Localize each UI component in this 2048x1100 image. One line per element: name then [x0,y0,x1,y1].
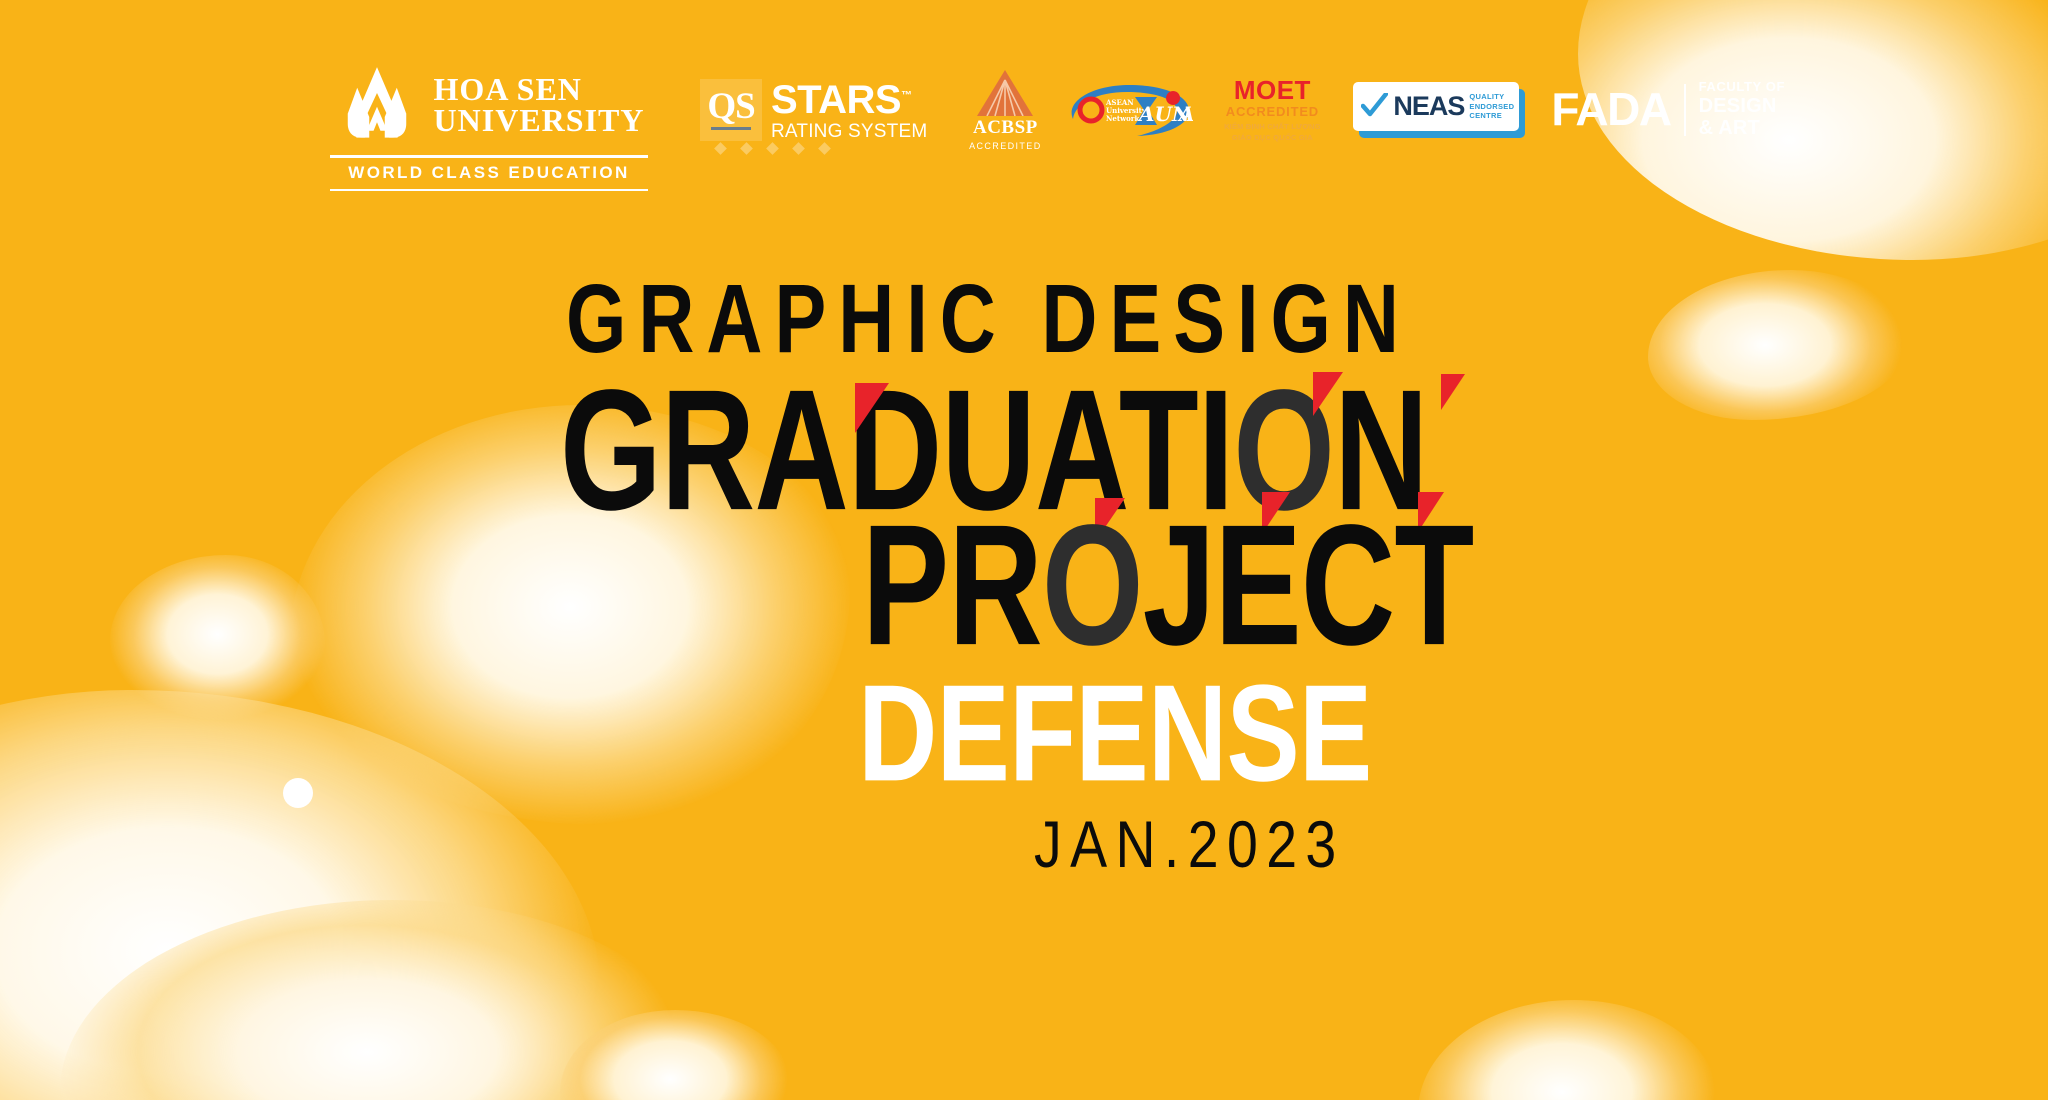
title-line-defense: DEFENSE [858,655,1371,812]
poster-title-stack: GRAPHIC DESIGN GRADUATION PROJECT DEFENS… [0,0,2048,1100]
title-date: JAN.2023 [1034,806,1345,882]
red-triangle-accent-6 [1441,374,1465,410]
project-part-b: JECT [1143,489,1474,681]
red-triangle-accent-2 [1313,372,1343,416]
red-triangle-accent-1 [855,383,889,433]
project-part-a: PR [862,489,1042,681]
project-letter-o: O [1042,489,1143,681]
poster-canvas: HOA SEN UNIVERSITY WORLD CLASS EDUCATION… [0,0,2048,1100]
